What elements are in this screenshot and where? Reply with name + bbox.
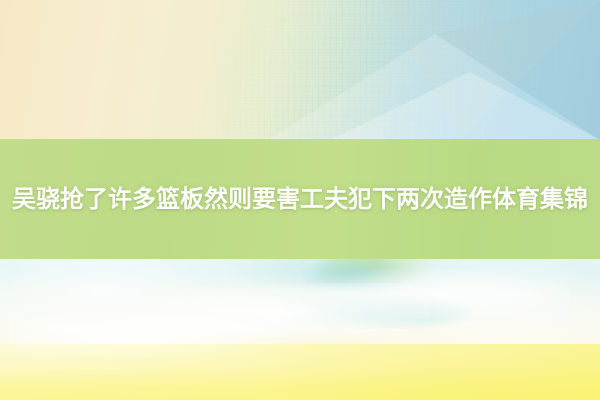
top-gradient-panel bbox=[0, 0, 600, 140]
sky-gradient-panel bbox=[0, 259, 600, 400]
banner-headline: 吴骁抢了许多篮板然则要害工夫犯下两次造作体育集锦 bbox=[11, 179, 589, 219]
yellow-footer-glow bbox=[0, 344, 600, 400]
headline-band: 吴骁抢了许多篮板然则要害工夫犯下两次造作体育集锦 bbox=[0, 139, 600, 259]
article-banner: 吴骁抢了许多篮板然则要害工夫犯下两次造作体育集锦 bbox=[0, 0, 600, 400]
